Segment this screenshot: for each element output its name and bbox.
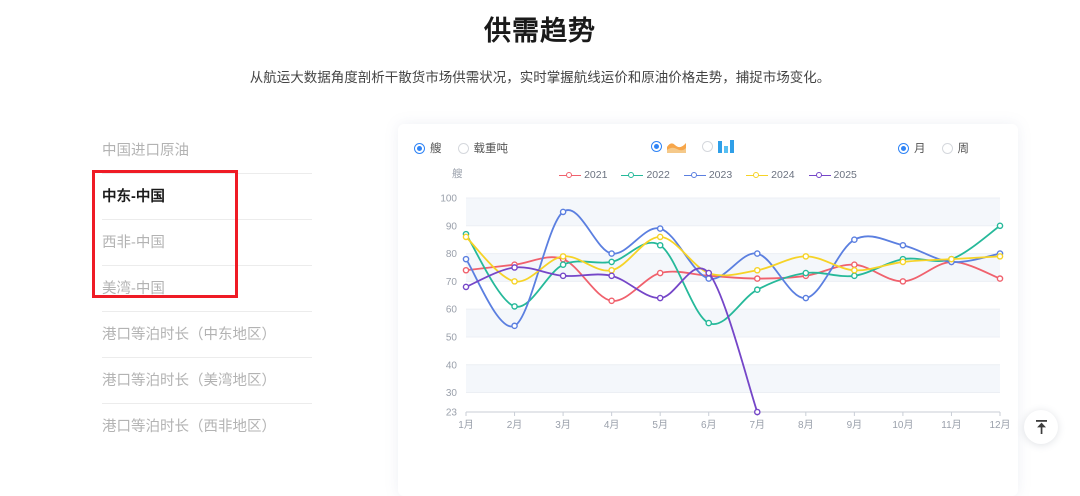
radio-dot-icon[interactable] (651, 141, 662, 152)
data-point[interactable] (609, 298, 614, 303)
data-point[interactable] (658, 295, 663, 300)
sidebar-item-0[interactable]: 中国进口原油 (92, 128, 324, 173)
legend-item-2024[interactable]: 2024 (746, 169, 794, 181)
y-axis-tick-label: 50 (446, 332, 458, 343)
data-point[interactable] (997, 276, 1002, 281)
data-point[interactable] (658, 243, 663, 248)
data-point[interactable] (706, 270, 711, 275)
data-point[interactable] (852, 237, 857, 242)
data-point[interactable] (852, 273, 857, 278)
line-chart: 10090807060504030231月2月3月4月5月6月7月8月9月10月… (398, 192, 1018, 447)
sidebar-item-4[interactable]: 港口等泊时长（中东地区） (92, 312, 324, 357)
page-root: 供需趋势 从航运大数据角度剖析干散货市场供需状况，实时掌握航线运价和原油价格走势… (0, 0, 1080, 496)
page-header: 供需趋势 从航运大数据角度剖析干散货市场供需状况，实时掌握航线运价和原油价格走势… (0, 0, 1080, 88)
data-point[interactable] (997, 254, 1002, 259)
legend-label: 2023 (709, 169, 732, 181)
sidebar-item-3[interactable]: 美湾-中国 (92, 266, 324, 311)
page-content: 中国进口原油中东-中国西非-中国美湾-中国港口等泊时长（中东地区）港口等泊时长（… (0, 118, 1080, 496)
plot-band (466, 365, 1000, 393)
x-axis-tick-label: 4月 (604, 419, 620, 431)
data-point[interactable] (560, 254, 565, 259)
data-point[interactable] (900, 243, 905, 248)
radio-dot-icon[interactable] (458, 143, 469, 154)
data-point[interactable] (706, 320, 711, 325)
data-point[interactable] (512, 279, 517, 284)
legend-marker-icon (809, 170, 831, 180)
area-chart-icon (667, 140, 686, 153)
y-axis-tick-label: 100 (440, 194, 457, 205)
data-point[interactable] (609, 259, 614, 264)
data-point[interactable] (852, 268, 857, 273)
bar-chart-icon (718, 140, 737, 153)
x-axis-tick-label: 7月 (749, 419, 765, 431)
data-point[interactable] (463, 234, 468, 239)
chart-type-option-bar[interactable] (702, 140, 737, 153)
period-option-label: 月 (914, 140, 926, 156)
legend-label: 2024 (771, 169, 794, 181)
sidebar-item-label: 中国进口原油 (102, 141, 189, 161)
data-point[interactable] (463, 257, 468, 262)
data-point[interactable] (609, 273, 614, 278)
sidebar-item-label: 港口等泊时长（西非地区） (102, 417, 276, 437)
x-axis-tick-label: 2月 (507, 419, 523, 431)
radio-dot-icon[interactable] (702, 141, 713, 152)
unit-option-label: 艘 (430, 140, 442, 156)
chart-type-option-area[interactable] (651, 140, 686, 153)
plot-band (466, 198, 1000, 226)
x-axis-tick-label: 12月 (989, 419, 1010, 431)
data-point[interactable] (900, 259, 905, 264)
legend-item-2023[interactable]: 2023 (684, 169, 732, 181)
y-axis-tick-label: 80 (446, 249, 458, 260)
data-point[interactable] (949, 257, 954, 262)
unit-option-label: 载重吨 (474, 140, 509, 156)
data-point[interactable] (755, 287, 760, 292)
data-point[interactable] (755, 268, 760, 273)
legend-label: 2021 (584, 169, 607, 181)
chart-controls: 艘 载重吨 (398, 140, 1018, 162)
x-axis-tick-label: 5月 (652, 419, 668, 431)
chart-plot-area: 10090807060504030231月2月3月4月5月6月7月8月9月10月… (398, 192, 1018, 447)
legend-marker-icon (746, 170, 768, 180)
period-option-week[interactable]: 周 (942, 140, 970, 156)
sidebar-item-label: 中东-中国 (102, 187, 165, 207)
legend-item-2025[interactable]: 2025 (809, 169, 857, 181)
data-point[interactable] (560, 262, 565, 267)
scroll-to-top-button[interactable] (1024, 410, 1058, 444)
data-point[interactable] (658, 226, 663, 231)
data-point[interactable] (512, 323, 517, 328)
sidebar-item-label: 美湾-中国 (102, 279, 165, 299)
data-point[interactable] (755, 276, 760, 281)
data-point[interactable] (560, 273, 565, 278)
x-axis-tick-label: 8月 (798, 419, 814, 431)
data-point[interactable] (463, 268, 468, 273)
chart-card: 艘 载重吨 (398, 124, 1018, 496)
data-point[interactable] (560, 209, 565, 214)
legend-marker-icon (684, 170, 706, 180)
y-axis-tick-label: 60 (446, 305, 458, 316)
legend-label: 2025 (834, 169, 857, 181)
y-axis-tick-label: 23 (446, 408, 458, 419)
legend-item-2021[interactable]: 2021 (559, 169, 607, 181)
data-point[interactable] (658, 234, 663, 239)
data-point[interactable] (755, 409, 760, 414)
data-point[interactable] (512, 265, 517, 270)
data-point[interactable] (658, 270, 663, 275)
arrow-up-to-line-icon (1034, 419, 1049, 435)
data-point[interactable] (803, 254, 808, 259)
chart-type-radio-group[interactable] (651, 140, 753, 153)
legend-marker-icon (621, 170, 643, 180)
y-axis-tick-label: 30 (446, 388, 458, 399)
data-point[interactable] (803, 295, 808, 300)
x-axis-tick-label: 11月 (941, 419, 961, 431)
data-point[interactable] (609, 268, 614, 273)
period-option-label: 周 (958, 140, 970, 156)
sidebar-item-label: 港口等泊时长（中东地区） (102, 325, 276, 345)
x-axis-tick-label: 6月 (701, 419, 717, 431)
y-axis-tick-label: 40 (446, 360, 458, 371)
x-axis-tick-label: 3月 (555, 419, 571, 431)
data-point[interactable] (997, 223, 1002, 228)
data-point[interactable] (803, 270, 808, 275)
page-title: 供需趋势 (0, 14, 1080, 48)
y-axis-tick-label: 70 (446, 277, 458, 288)
unit-radio-group[interactable]: 艘 载重吨 (414, 140, 524, 156)
sidebar-item-1[interactable]: 中东-中国 (92, 174, 324, 219)
y-axis-tick-label: 90 (446, 221, 458, 232)
page-subtitle: 从航运大数据角度剖析干散货市场供需状况，实时掌握航线运价和原油价格走势，捕捉市场… (0, 68, 1080, 88)
data-point[interactable] (463, 284, 468, 289)
unit-option-vessels[interactable]: 艘 (414, 140, 442, 156)
data-point[interactable] (512, 304, 517, 309)
legend-label: 2022 (646, 169, 669, 181)
legend-item-2022[interactable]: 2022 (621, 169, 669, 181)
radio-dot-icon[interactable] (942, 143, 953, 154)
sidebar-item-label: 西非-中国 (102, 233, 165, 253)
x-axis-tick-label: 1月 (458, 419, 474, 431)
sidebar-item-2[interactable]: 西非-中国 (92, 220, 324, 265)
sidebar-item-6[interactable]: 港口等泊时长（西非地区） (92, 404, 324, 449)
data-point[interactable] (755, 251, 760, 256)
x-axis-tick-label: 10月 (892, 419, 913, 431)
sidebar: 中国进口原油中东-中国西非-中国美湾-中国港口等泊时长（中东地区）港口等泊时长（… (92, 128, 324, 449)
period-radio-group[interactable]: 月 周 (898, 140, 985, 156)
sidebar-item-label: 港口等泊时长（美湾地区） (102, 371, 276, 391)
data-point[interactable] (900, 279, 905, 284)
radio-dot-icon[interactable] (898, 143, 909, 154)
x-axis-tick-label: 9月 (847, 419, 863, 431)
data-point[interactable] (609, 251, 614, 256)
data-point[interactable] (852, 262, 857, 267)
chart-legend[interactable]: 20212022202320242025 (398, 169, 1018, 181)
sidebar-item-5[interactable]: 港口等泊时长（美湾地区） (92, 358, 324, 403)
radio-dot-icon[interactable] (414, 143, 425, 154)
period-option-month[interactable]: 月 (898, 140, 926, 156)
legend-marker-icon (559, 170, 581, 180)
unit-option-dwt[interactable]: 载重吨 (458, 140, 509, 156)
